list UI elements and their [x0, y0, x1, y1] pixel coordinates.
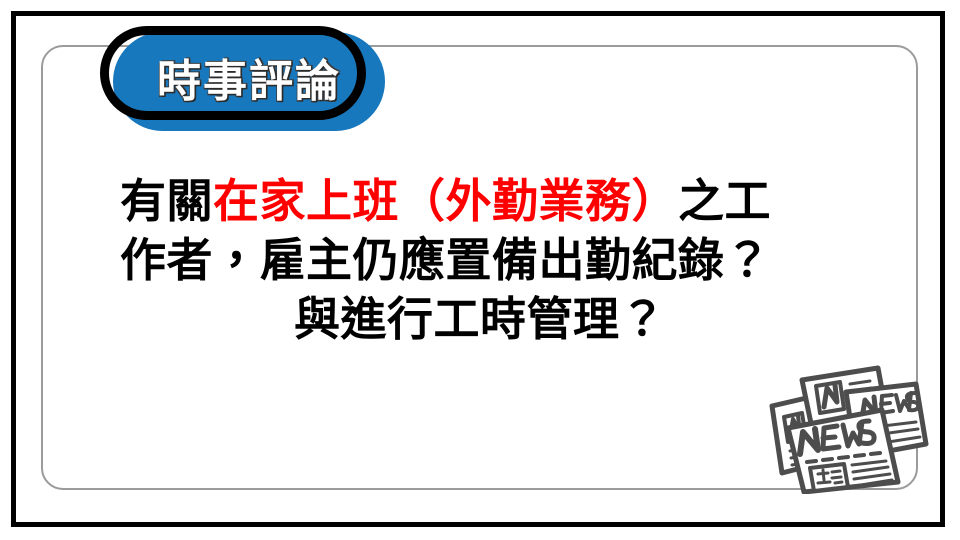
headline-line-1-highlight: 在家上班（外勤業務）: [213, 174, 678, 228]
headline-line-1-prefix: 有關: [120, 174, 213, 228]
topic-badge: 時事評論: [98, 24, 398, 136]
slide-canvas: 時事評論 有關在家上班（外勤業務）之工 作者，雇主仍應置備出勤紀錄？ 與進行工時…: [0, 0, 960, 540]
newspaper-stack-icon: [766, 362, 938, 494]
badge-label: 時事評論: [113, 32, 385, 131]
headline-line-3: 與進行工時管理？: [120, 290, 840, 349]
headline-block: 有關在家上班（外勤業務）之工 作者，雇主仍應置備出勤紀錄？ 與進行工時管理？: [120, 172, 840, 349]
headline-line-1: 有關在家上班（外勤業務）之工: [120, 172, 840, 231]
headline-line-1-suffix: 之工: [678, 174, 771, 228]
headline-line-2: 作者，雇主仍應置備出勤紀錄？: [120, 231, 840, 290]
